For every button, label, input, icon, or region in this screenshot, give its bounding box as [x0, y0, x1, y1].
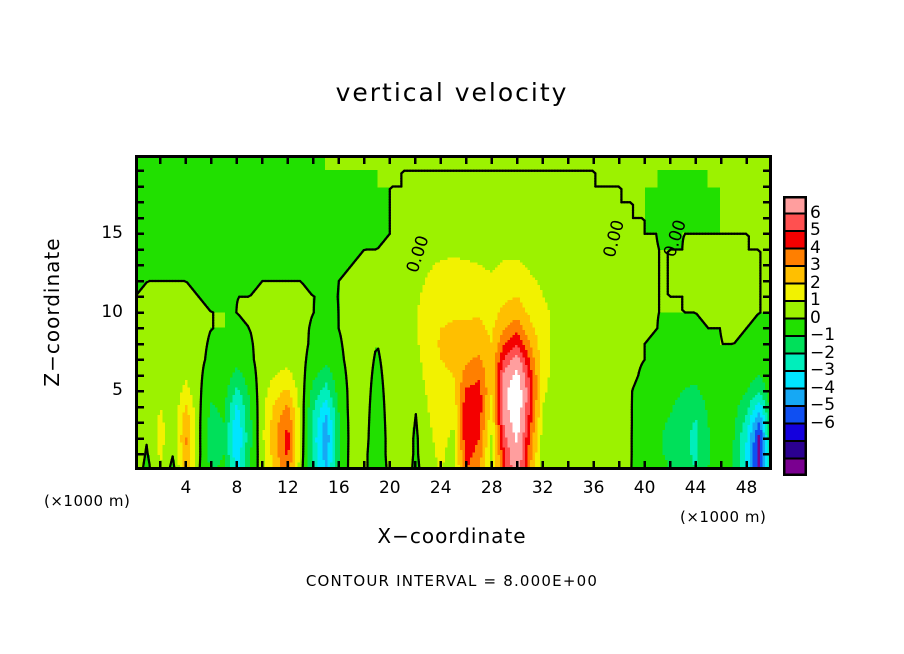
y-tick-label: 10 [83, 302, 123, 322]
y-tick-label: 5 [83, 380, 123, 400]
y-axis-label: Z−coordinate [40, 212, 64, 412]
x-tick-label: 8 [217, 478, 257, 498]
x-axis-label: X−coordinate [0, 524, 904, 548]
contour-interval-caption: CONTOUR INTERVAL = 8.000E+00 [0, 572, 904, 590]
x-tick-label: 12 [268, 478, 308, 498]
contour-plot-area: 0.000.000.00 [135, 155, 772, 470]
x-tick-label: 32 [523, 478, 563, 498]
z-axis-units: (×1000 m) [44, 492, 130, 510]
x-tick-label: 44 [676, 478, 716, 498]
x-tick-label: 40 [625, 478, 665, 498]
x-tick-label: 28 [472, 478, 512, 498]
y-tick-label: 15 [83, 223, 123, 243]
x-tick-label: 4 [166, 478, 206, 498]
x-tick-label: 36 [574, 478, 614, 498]
x-tick-label: 20 [370, 478, 410, 498]
colorbar-tick-label: −6 [810, 413, 850, 433]
colorbar [783, 196, 807, 476]
x-axis-units: (×1000 m) [680, 508, 766, 526]
x-tick-label: 48 [727, 478, 767, 498]
x-tick-label: 16 [319, 478, 359, 498]
x-tick-label: 24 [421, 478, 461, 498]
chart-title: vertical velocity [0, 78, 904, 107]
figure-canvas: vertical velocity 0.000.000.00 Z−coordin… [0, 0, 904, 654]
